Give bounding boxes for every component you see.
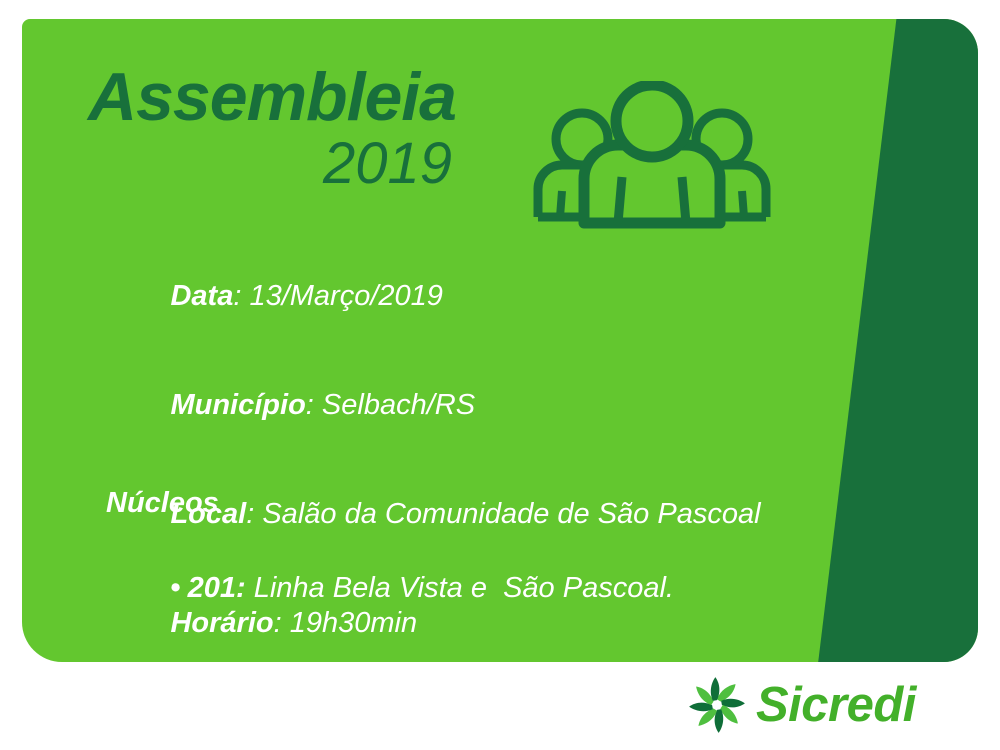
detail-separator-municipio: : [306, 389, 322, 421]
detail-row-data: Data: 13/Março/2019 [106, 253, 846, 340]
nucleo-item-202: •202: Linha Floresta e Santa Isabel. [106, 657, 846, 662]
bullet-icon: • [170, 572, 180, 604]
detail-row-municipio: Município: Selbach/RS [106, 362, 846, 449]
detail-value-municipio: Selbach/RS [322, 389, 475, 421]
sicredi-pinwheel-icon [686, 676, 748, 734]
detail-label-data: Data [170, 280, 233, 312]
detail-label-municipio: Município [170, 389, 305, 421]
brand-name: Sicredi [756, 681, 916, 730]
page-title: Assembleia [88, 63, 456, 131]
title-block: Assembleia 2019 [88, 63, 456, 193]
people-group-icon [524, 81, 780, 231]
page-title-year: 2019 [88, 135, 456, 193]
poster-canvas: Assembleia 2019 [0, 0, 1000, 750]
detail-separator-data: : [233, 280, 249, 312]
announcement-card: Assembleia 2019 [22, 19, 978, 662]
nucleo-description-201: Linha Bela Vista e São Pascoal. [246, 572, 674, 604]
nucleos-heading: Núcleos [106, 489, 846, 518]
detail-value-data: 13/Março/2019 [249, 280, 442, 312]
brand-logo: Sicredi [686, 676, 916, 734]
nucleos-section: Núcleos •201: Linha Bela Vista e São Pas… [106, 489, 846, 662]
nucleo-item-201: •201: Linha Bela Vista e São Pascoal. [106, 545, 846, 632]
nucleo-code-201: 201: [188, 572, 246, 604]
card-header: Assembleia 2019 [22, 19, 978, 229]
